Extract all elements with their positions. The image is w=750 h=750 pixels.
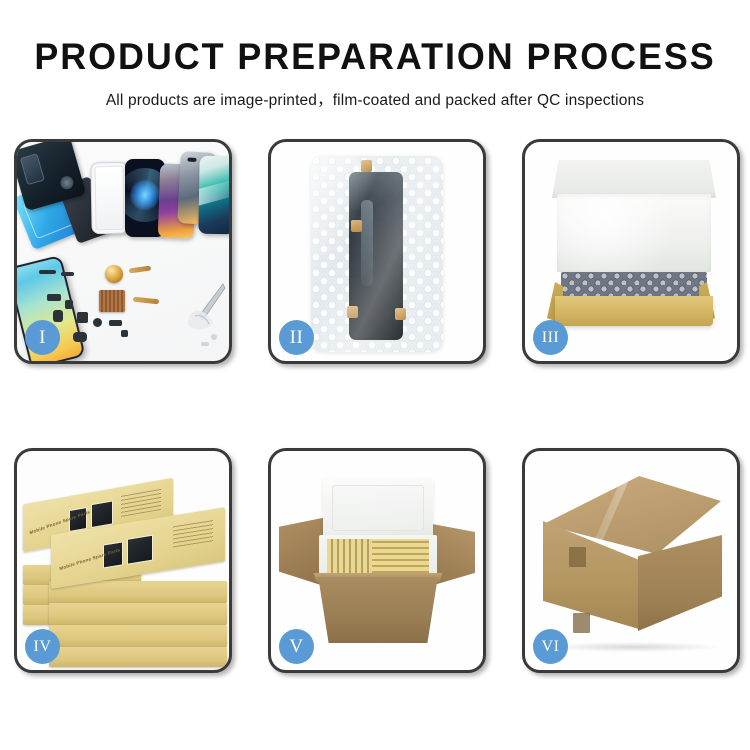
page-header: PRODUCT PREPARATION PROCESS All products… <box>0 0 750 110</box>
small-part <box>39 270 56 274</box>
process-step-grid: I II III <box>14 139 736 673</box>
tape-strip <box>569 547 586 567</box>
tape-tab <box>351 220 362 232</box>
foam-cooler-lid <box>323 478 433 538</box>
tape-tab <box>347 306 358 318</box>
stacked-box <box>49 603 227 625</box>
spec-text-lines <box>173 519 213 547</box>
small-part <box>109 320 122 326</box>
tweezers-tool <box>179 282 227 334</box>
step-panel-3[interactable]: III <box>522 139 740 364</box>
small-part <box>121 330 128 337</box>
small-part <box>53 310 63 322</box>
page-subtitle: All products are image-printed，film-coat… <box>0 88 750 110</box>
product-window <box>91 500 113 528</box>
step-badge-1: I <box>25 320 60 355</box>
small-part <box>65 300 73 309</box>
page-title: PRODUCT PREPARATION PROCESS <box>11 38 739 75</box>
glass-protector <box>90 162 128 235</box>
step-panel-2[interactable]: II <box>268 139 486 364</box>
spec-text-lines <box>121 488 161 517</box>
small-part <box>73 332 87 342</box>
step-badge-5: V <box>279 629 314 664</box>
box-lid <box>552 160 716 198</box>
bubble-wrap-bag <box>311 156 443 352</box>
white-foam-sheet <box>557 194 711 272</box>
step-badge-6: VI <box>533 629 568 664</box>
step-badge-4: IV <box>25 629 60 664</box>
small-part <box>93 318 102 327</box>
small-part <box>61 272 74 276</box>
step-panel-4[interactable]: Mobile Phone Spare Parts Mobile Phone Sp… <box>14 448 232 673</box>
small-part <box>201 342 209 346</box>
teal-wave-phone <box>198 156 229 235</box>
gold-speaker-part <box>105 265 123 283</box>
carton-shadow <box>549 642 719 652</box>
small-part <box>211 334 217 340</box>
step-panel-5[interactable]: V <box>268 448 486 673</box>
tape-tab <box>395 308 406 320</box>
tape-strip <box>573 613 590 633</box>
carton-front <box>313 577 443 643</box>
small-part <box>77 312 88 323</box>
logic-chip-part <box>99 290 125 312</box>
dark-bubble-wrap <box>561 272 707 296</box>
step-panel-1[interactable]: I <box>14 139 232 364</box>
stacked-box <box>49 625 227 647</box>
flex-cable-part <box>129 265 151 273</box>
flex-cable-part <box>133 297 159 305</box>
product-window <box>127 535 153 565</box>
step-badge-2: II <box>279 320 314 355</box>
step-panel-6[interactable]: VI <box>522 448 740 673</box>
stacked-box <box>49 647 227 667</box>
kraft-box-front <box>555 296 713 326</box>
kraft-boxes-inside <box>327 539 429 577</box>
small-part <box>47 294 61 301</box>
step-badge-3: III <box>533 320 568 355</box>
tape-tab <box>361 160 372 172</box>
